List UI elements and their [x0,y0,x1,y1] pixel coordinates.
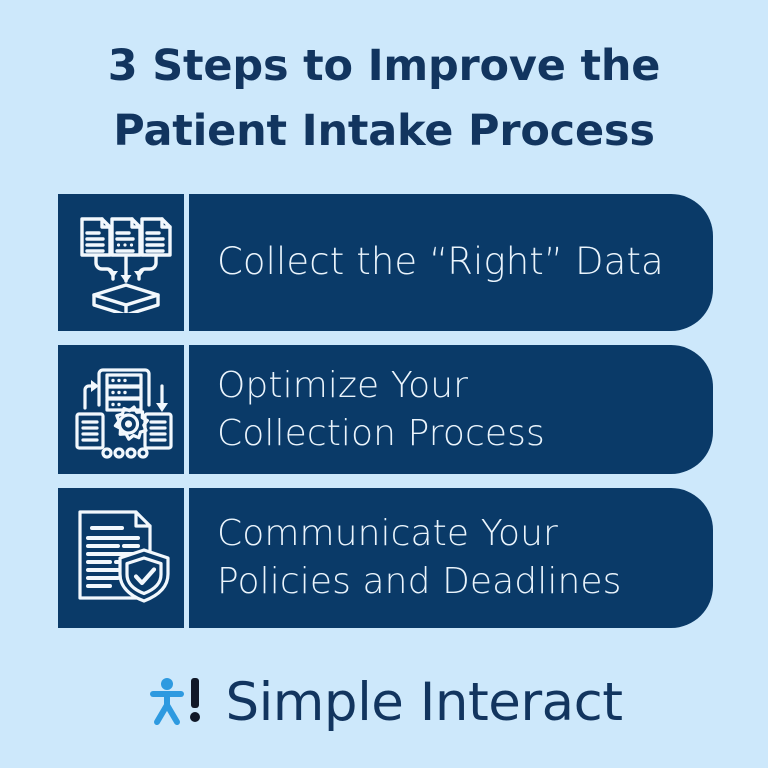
page-title: 3 Steps to Improve the Patient Intake Pr… [0,34,768,165]
step-icon-cell [58,194,189,331]
step-label: Collect the “Right” Data [217,238,689,287]
documents-to-stack-icon [72,213,176,313]
step-text-cell: Optimize Your Collection Process [189,345,713,474]
step-icon-cell [58,345,189,474]
step-row[interactable]: Collect the “Right” Data [58,194,713,331]
title-line-2: Patient Intake Process [0,99,768,164]
server-gear-process-icon [72,360,176,460]
step-row[interactable]: Optimize Your Collection Process [58,345,713,474]
person-exclamation-icon [145,674,213,730]
step-text-cell: Collect the “Right” Data [189,194,713,331]
title-line-1: 3 Steps to Improve the [0,34,768,99]
brand-logo[interactable]: Simple Interact [0,674,768,730]
step-icon-cell [58,488,189,628]
step-label: Optimize Your [217,362,689,410]
step-text-cell: Communicate Your Policies and Deadlines [189,488,713,628]
step-label: Communicate Your [217,510,689,558]
poster-canvas: 3 Steps to Improve the Patient Intake Pr… [0,0,768,768]
step-label-2: Collection Process [217,410,689,458]
step-label-2: Policies and Deadlines [217,558,689,606]
steps-list: Collect the “Right” Data [58,194,713,642]
brand-name: Simple Interact [225,676,622,729]
step-row[interactable]: Communicate Your Policies and Deadlines [58,488,713,628]
document-shield-check-icon [72,506,176,610]
